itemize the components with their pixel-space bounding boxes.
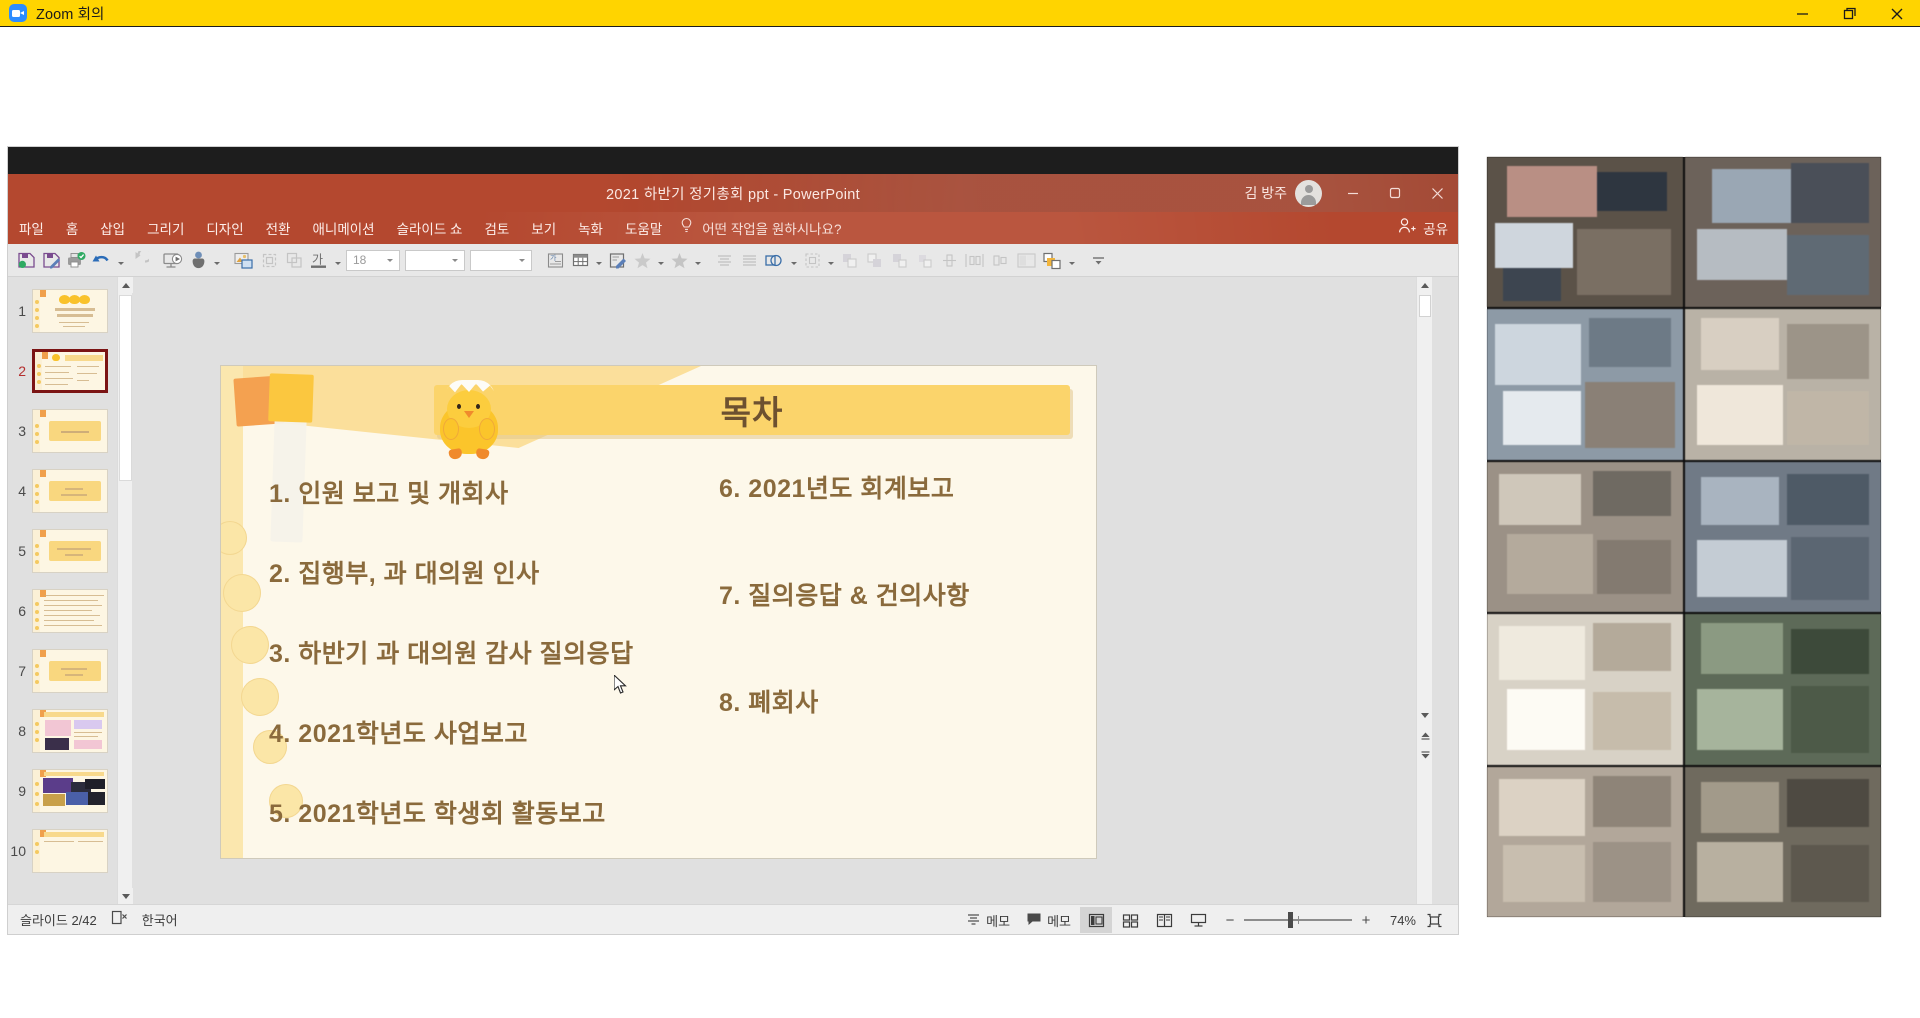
shape-fill-dropdown-icon[interactable] (1066, 247, 1077, 273)
title-banner (44, 832, 104, 837)
font-size-value: 18 (353, 253, 383, 267)
slide-side-strip (33, 410, 40, 452)
save-sync-icon[interactable] (14, 247, 38, 273)
previous-slide-button[interactable] (1417, 727, 1433, 744)
slide-preview[interactable] (32, 409, 108, 453)
sticky-note-yellow-decoration (268, 373, 314, 423)
participant-video-tile[interactable] (1487, 157, 1683, 307)
zoom-level-label[interactable]: 74% (1382, 913, 1416, 928)
slide-number-label: 5 (8, 543, 32, 559)
slide-layout-icon[interactable] (1014, 247, 1039, 273)
agenda-item: 5. 2021학년도 학생회 활동보고 (269, 794, 739, 830)
tell-me-placeholder: 어떤 작업을 원하시나요? (702, 218, 841, 238)
screenshot-image (43, 778, 73, 793)
zoom-slider-control[interactable]: − + (1216, 912, 1380, 929)
account-area[interactable]: 김 방주 (1244, 180, 1322, 207)
section-title-line (65, 674, 83, 676)
screenshot-image (88, 792, 105, 805)
agenda-line (77, 380, 89, 381)
send-backward-icon[interactable] (862, 247, 886, 273)
thumbnail-pane-scrollbar[interactable] (117, 277, 132, 904)
slide-area-scrollbar[interactable] (1416, 277, 1432, 904)
style-gallery-input[interactable] (470, 250, 532, 271)
participant-video-tile[interactable] (1685, 767, 1881, 917)
agenda-item: 4. 2021학년도 사업보고 (269, 714, 739, 750)
font-size-input[interactable]: 18 (346, 250, 400, 271)
align-justify-icon[interactable] (737, 247, 761, 273)
section-title-box (49, 661, 101, 681)
agenda-item: 8. 폐회사 (719, 683, 1096, 719)
section-title-line (57, 548, 91, 550)
slide-number-label: 8 (8, 723, 32, 739)
start-slideshow-icon[interactable] (160, 247, 185, 273)
agenda-list-left[interactable]: 1. 인원 보고 및 개회사 2. 집행부, 과 대의원 인사 3. 하반기 과… (269, 474, 739, 858)
slide-preview[interactable] (32, 649, 108, 693)
slide-number-label: 4 (8, 483, 32, 499)
agenda-item: 3. 하반기 과 대의원 감사 질의응답 (269, 634, 739, 670)
body-line (44, 625, 102, 626)
thumbnail-scroll-up-button[interactable] (118, 277, 133, 293)
screenshot-image (85, 779, 105, 789)
thumbnail-scroll-down-button[interactable] (118, 888, 133, 904)
powerpoint-restore-icon[interactable] (1374, 174, 1416, 212)
ribbon-tab-design[interactable]: 디자인 (195, 212, 254, 244)
agenda-item: 1. 인원 보고 및 개회사 (269, 474, 739, 510)
shape-styles-icon[interactable] (667, 247, 691, 273)
slideshow-view-icon[interactable] (1182, 907, 1214, 933)
section-title-box (49, 541, 101, 561)
slide-side-strip (33, 470, 40, 512)
notes-icon (966, 912, 981, 929)
powerpoint-title-bar: 2021 하반기 정기총회 ppt - PowerPoint 김 방주 (8, 174, 1458, 212)
slide-scroll-up-button[interactable] (1417, 277, 1433, 294)
slide-scrollbar-thumb[interactable] (1419, 295, 1431, 317)
ribbon-tab-bar: 파일 홈 삽입 그리기 디자인 전환 애니메이션 슬라이드 쇼 검토 보기 녹화… (8, 212, 1458, 244)
screenshot-image (66, 792, 88, 805)
slide-title-banner[interactable]: 목차 (434, 385, 1070, 435)
lightbulb-icon (679, 217, 694, 240)
slide-number-label: 10 (8, 843, 32, 859)
slide-preview[interactable] (32, 709, 108, 753)
slide-title-text: 목차 (721, 386, 784, 434)
comments-button-label: 메모 (1047, 911, 1071, 930)
merge-shapes-icon[interactable] (762, 247, 787, 273)
slide-side-strip (33, 290, 40, 332)
participant-video-tile[interactable] (1685, 462, 1881, 612)
zoom-meeting-window: Zoom 회의 (0, 0, 1920, 1018)
section-title-line (61, 431, 89, 433)
agenda-line (45, 372, 69, 373)
send-to-back-icon[interactable] (912, 247, 936, 273)
body-line (78, 841, 103, 842)
zoom-in-button[interactable]: + (1360, 912, 1372, 929)
participant-video-tile[interactable] (1685, 614, 1881, 764)
notes-button[interactable]: 메모 (959, 907, 1017, 933)
slide-sorter-icon[interactable] (1114, 907, 1146, 933)
touch-mode-icon[interactable] (186, 247, 210, 273)
style-gallery-dropdown-icon[interactable] (515, 259, 528, 262)
merge-shapes-dropdown-icon[interactable] (788, 247, 799, 273)
notes-button-label: 메모 (986, 911, 1010, 930)
slide-number-label: 2 (8, 363, 32, 379)
slide-side-strip (33, 590, 40, 632)
chick-in-eggshell-icon (428, 380, 512, 462)
select-objects-dropdown-icon[interactable] (825, 247, 836, 273)
slide-preview[interactable] (32, 469, 108, 513)
share-button[interactable]: 공유 (1398, 212, 1448, 244)
insert-table-icon[interactable] (568, 247, 592, 273)
content-image (74, 720, 102, 729)
zoom-slider-track[interactable] (1244, 919, 1352, 921)
zoom-title-left-group: Zoom 회의 (0, 3, 104, 24)
powerpoint-close-icon[interactable] (1416, 174, 1458, 212)
ribbon-tab-home[interactable]: 홈 (55, 212, 89, 244)
agenda-item: 7. 질의응답 & 건의사항 (719, 576, 1096, 612)
participant-video-tile[interactable] (1487, 767, 1683, 917)
title-banner (44, 772, 104, 776)
shape-effects-icon[interactable] (630, 247, 654, 273)
slide-side-strip (33, 530, 40, 572)
agenda-item: 6. 2021년도 회계보고 (719, 469, 1096, 505)
share-person-icon (1398, 217, 1417, 239)
slide-side-strip (35, 352, 42, 390)
slide-canvas-area[interactable]: 목차 (136, 277, 1439, 904)
status-bar: 슬라이드 2/42 한국어 (8, 904, 1458, 934)
title-line (55, 308, 95, 311)
quick-access-toolbar: 가 18 (8, 244, 1458, 277)
agenda-line (45, 384, 68, 385)
share-button-label: 공유 (1423, 218, 1448, 238)
body-line (74, 732, 102, 733)
font-color-dropdown-icon[interactable] (332, 247, 343, 273)
more-options-icon[interactable] (1086, 247, 1110, 273)
distribute-vertical-icon[interactable] (988, 247, 1013, 273)
normal-view-icon[interactable] (1080, 907, 1112, 933)
slide-side-strip (33, 650, 40, 692)
font-color-icon[interactable]: 가 (307, 247, 331, 273)
shared-window-top-strip (8, 147, 1458, 174)
participant-video-gallery[interactable] (1487, 157, 1881, 917)
insert-picture-icon[interactable] (231, 247, 256, 273)
zoom-out-button[interactable]: − (1224, 912, 1236, 929)
title-line (57, 314, 93, 317)
svg-text:가: 가 (312, 252, 323, 266)
ribbon-tab-review[interactable]: 검토 (473, 212, 520, 244)
ribbon-tab-slideshow[interactable]: 슬라이드 쇼 (386, 212, 474, 244)
distribute-horizontal-icon[interactable] (962, 247, 987, 273)
participant-video-tile[interactable] (1685, 309, 1881, 459)
zoom-slider-midpoint (1298, 916, 1299, 924)
agenda-line (45, 366, 71, 367)
text-box-icon[interactable]: 가 (543, 247, 567, 273)
slide-number-label: 7 (8, 663, 32, 679)
undo-dropdown-icon[interactable] (115, 247, 126, 273)
zoom-camera-icon (9, 4, 27, 22)
body-line (44, 605, 102, 606)
redo-icon[interactable] (127, 247, 151, 273)
slide-scroll-down-button[interactable] (1417, 707, 1433, 724)
section-title-line (65, 554, 83, 556)
svg-text:가: 가 (550, 253, 557, 262)
slide-preview[interactable] (32, 769, 108, 813)
powerpoint-minimize-icon[interactable] (1332, 174, 1374, 212)
zoom-window-title: Zoom 회의 (36, 3, 104, 24)
agenda-item: 2. 집행부, 과 대의원 인사 (269, 554, 739, 590)
slide-preview[interactable] (32, 349, 108, 393)
zoom-title-bar: Zoom 회의 (0, 0, 1920, 27)
body-line (44, 595, 104, 596)
subtitle-line (63, 326, 85, 328)
title-banner (65, 355, 103, 361)
select-objects-icon[interactable] (800, 247, 824, 273)
powerpoint-document-title: 2021 하반기 정기총회 ppt - PowerPoint (606, 183, 860, 204)
bring-forward-icon[interactable] (837, 247, 861, 273)
zoom-close-icon[interactable] (1873, 0, 1920, 27)
bring-to-front-icon[interactable] (887, 247, 911, 273)
body-line (44, 610, 92, 611)
chick-icon (79, 295, 90, 304)
editing-area: 1 (8, 277, 1458, 904)
agenda-list-right[interactable]: 6. 2021년도 회계보고 7. 질의응답 & 건의사항 8. 폐회사 (719, 469, 1096, 790)
selection-pane-icon[interactable] (257, 247, 281, 273)
slide-preview[interactable] (32, 829, 108, 873)
zoom-restore-icon[interactable] (1826, 0, 1873, 27)
slide-preview[interactable] (32, 529, 108, 573)
body-line (74, 736, 98, 737)
group-objects-icon[interactable] (282, 247, 306, 273)
ribbon-tab-insert[interactable]: 삽입 (89, 212, 136, 244)
next-slide-button[interactable] (1417, 747, 1433, 764)
zoom-slider-handle[interactable] (1288, 912, 1293, 928)
slide-side-strip (33, 710, 40, 752)
slide-indicator[interactable]: 슬라이드 2/42 (20, 910, 97, 929)
reading-view-icon[interactable] (1148, 907, 1180, 933)
content-image (45, 738, 69, 750)
ribbon-tab-help[interactable]: 도움말 (614, 212, 673, 244)
align-center-icon[interactable] (712, 247, 736, 273)
section-title-line (61, 668, 87, 670)
slide-thumbnail-pane[interactable]: 1 (8, 277, 136, 904)
ribbon-tab-record[interactable]: 녹화 (567, 212, 614, 244)
slide-number-label: 1 (8, 303, 32, 319)
slide-side-strip (33, 830, 40, 872)
print-preview-icon[interactable] (64, 247, 88, 273)
agenda-line (77, 373, 97, 374)
powerpoint-window: 2021 하반기 정기총회 ppt - PowerPoint 김 방주 (8, 147, 1458, 934)
mouse-cursor (614, 675, 628, 695)
comments-button[interactable]: 메모 (1019, 907, 1078, 933)
language-indicator[interactable]: 한국어 (142, 910, 178, 929)
screenshot-image (43, 794, 65, 806)
save-edit-icon[interactable] (39, 247, 63, 273)
shape-effects-dropdown-icon[interactable] (655, 247, 666, 273)
slide-number-label: 3 (8, 423, 32, 439)
slide-preview[interactable] (32, 589, 108, 633)
account-user-name: 김 방주 (1244, 183, 1287, 203)
shape-styles-dropdown-icon[interactable] (692, 247, 703, 273)
powerpoint-titlebar-right-group: 김 방주 (1244, 174, 1458, 212)
section-title-line (65, 488, 83, 490)
chick-icon (52, 354, 60, 361)
participant-video-tile[interactable] (1487, 614, 1683, 764)
ribbon-tab-transitions[interactable]: 전환 (255, 212, 302, 244)
agenda-line (77, 366, 99, 367)
slide-number-label: 6 (8, 603, 32, 619)
accessibility-check-icon[interactable] (111, 910, 128, 930)
content-image (45, 720, 71, 736)
section-title-line (61, 494, 87, 496)
thumbnail-scrollbar-thumb[interactable] (119, 295, 132, 481)
shape-fill-icon[interactable] (1040, 247, 1065, 273)
slide-preview[interactable] (32, 289, 108, 333)
font-name-dropdown-icon[interactable] (448, 259, 461, 262)
slide-side-strip (33, 770, 40, 812)
ribbon-tab-file[interactable]: 파일 (8, 212, 55, 244)
fit-slide-to-window-icon[interactable] (1418, 907, 1450, 933)
insert-table-dropdown-icon[interactable] (593, 247, 604, 273)
status-bar-left-group: 슬라이드 2/42 한국어 (8, 910, 178, 930)
font-name-input[interactable] (405, 250, 465, 271)
zoom-meeting-content-area: 2021 하반기 정기총회 ppt - PowerPoint 김 방주 (0, 27, 1920, 1018)
tell-me-search-box[interactable]: 어떤 작업을 원하시나요? (679, 217, 841, 240)
touch-mode-dropdown-icon[interactable] (211, 247, 222, 273)
zoom-minimize-icon[interactable] (1779, 0, 1826, 27)
title-banner (44, 712, 104, 717)
participant-video-tile[interactable] (1487, 462, 1683, 612)
undo-icon[interactable] (89, 247, 114, 273)
current-slide[interactable]: 목차 (221, 366, 1096, 858)
font-size-dropdown-icon[interactable] (383, 259, 396, 262)
body-line (44, 841, 74, 842)
zoom-window-controls[interactable] (1779, 0, 1920, 27)
ribbon-tab-draw[interactable]: 그리기 (136, 212, 195, 244)
section-title-box (49, 481, 101, 501)
body-line (44, 615, 100, 616)
comment-bubble-icon (1026, 912, 1042, 929)
body-line (44, 600, 98, 601)
participant-video-tile[interactable] (1685, 157, 1881, 307)
participant-video-tile[interactable] (1487, 309, 1683, 459)
ribbon-tab-animations[interactable]: 애니메이션 (301, 212, 385, 244)
edit-shape-icon[interactable] (605, 247, 629, 273)
user-avatar-icon[interactable] (1295, 180, 1322, 207)
slide-number-label: 9 (8, 783, 32, 799)
agenda-line (45, 378, 73, 379)
content-image (74, 740, 102, 749)
body-line (44, 620, 94, 621)
subtitle-line (59, 322, 89, 324)
align-middle-icon[interactable] (937, 247, 961, 273)
ribbon-tab-view[interactable]: 보기 (520, 212, 567, 244)
status-bar-right-group: 메모 메모 (959, 905, 1450, 934)
